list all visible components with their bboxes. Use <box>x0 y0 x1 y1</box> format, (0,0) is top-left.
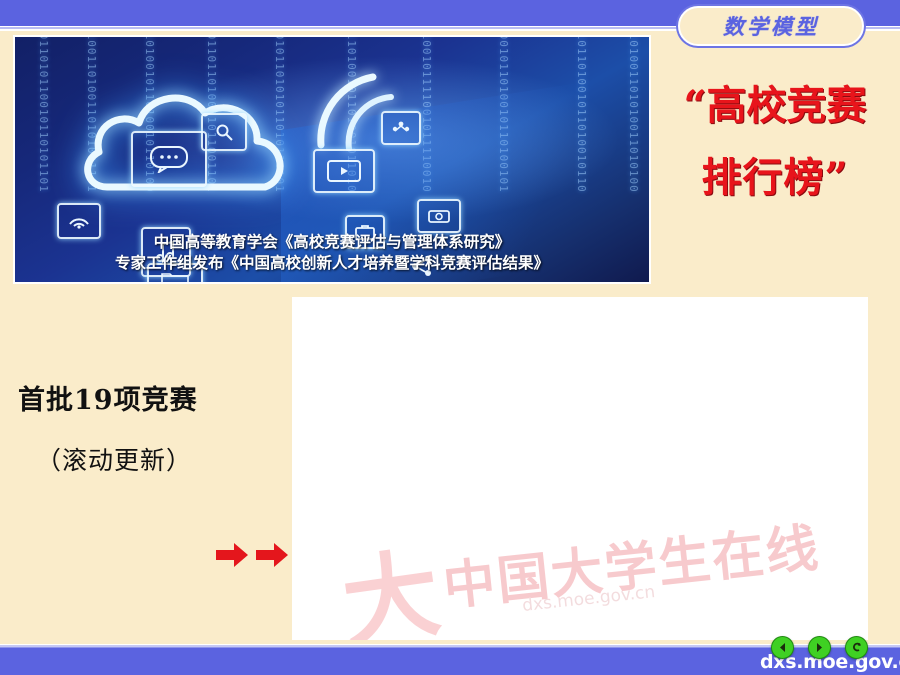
left-note: 首批19项竞赛 （滚动更新） <box>18 378 280 477</box>
people-icon <box>381 111 421 145</box>
red-arrows-icon <box>216 538 292 572</box>
previous-slide-button[interactable] <box>771 636 794 659</box>
next-slide-button[interactable] <box>808 636 831 659</box>
left-note-line1: 首批19项竞赛 <box>18 378 280 417</box>
video-play-icon <box>313 149 375 193</box>
chat-icon <box>131 131 207 187</box>
page-title-line1: “高校竞赛 <box>650 70 900 142</box>
section-badge-label: 数学模型 <box>723 11 819 41</box>
left-note-line2: （滚动更新） <box>36 441 280 477</box>
image-caption-line2: 专家工作组发布《中国高校创新人才培养暨学科竞赛评估结果》 <box>15 253 649 274</box>
competition-table-container: 大 中国大学生在线 dxs.moe.gov.cn 序号 竞赛名称 1 中国“互联… <box>292 297 868 640</box>
page-title-line2: 排行榜” <box>650 142 900 214</box>
search-icon <box>201 113 247 151</box>
camera-icon <box>417 199 461 233</box>
cloud-computing-image: 1011010110010110101101 01001101001101010… <box>13 35 651 284</box>
return-button[interactable] <box>845 636 868 659</box>
page-title: “高校竞赛 排行榜” <box>650 70 900 214</box>
image-caption-line1: 中国高等教育学会《高校竞赛评估与管理体系研究》 <box>15 232 649 253</box>
section-badge: 数学模型 <box>678 6 864 46</box>
slide-navigation <box>771 636 868 659</box>
image-caption: 中国高等教育学会《高校竞赛评估与管理体系研究》 专家工作组发布《中国高校创新人才… <box>15 232 649 274</box>
slide-root: 数学模型 1011010110010110101101 010011010011… <box>0 0 900 675</box>
table-background <box>292 297 868 640</box>
